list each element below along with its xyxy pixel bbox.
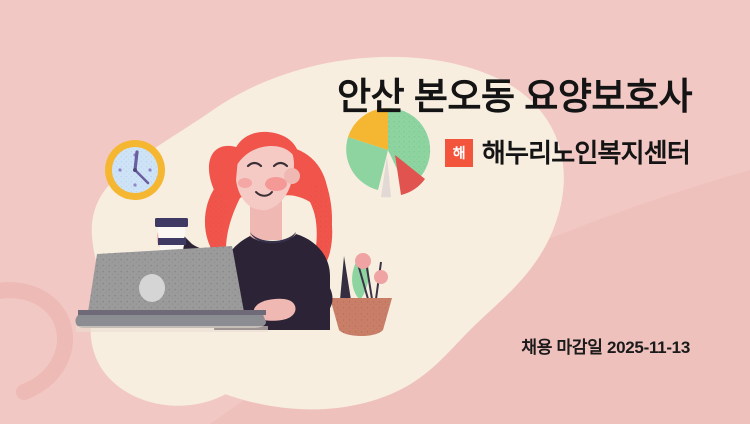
recruitment-banner: 안산 본오동 요양보호사 해 해누리노인복지센터 채용 마감일 2025-11-… [0, 0, 750, 424]
cheek-left [238, 178, 252, 188]
organization-logo-badge: 해 [445, 139, 473, 167]
organization-row: 해 해누리노인복지센터 [380, 138, 690, 168]
desk-shadow [76, 326, 268, 332]
laptop-logo [139, 274, 165, 302]
cup-band-top [155, 218, 188, 227]
plant-flower-2 [374, 270, 388, 284]
laptop-base-edge [78, 310, 266, 315]
illustration-canvas [0, 0, 750, 424]
cheek [265, 177, 287, 191]
cup-band-mid [158, 238, 186, 245]
wall-clock [105, 140, 165, 200]
plant-flower-1 [355, 253, 371, 269]
organization-name: 해누리노인복지센터 [482, 138, 690, 168]
ear [284, 168, 300, 184]
page-title: 안산 본오동 요양보호사 [272, 76, 692, 118]
application-deadline: 채용 마감일 2025-11-13 [390, 337, 690, 359]
